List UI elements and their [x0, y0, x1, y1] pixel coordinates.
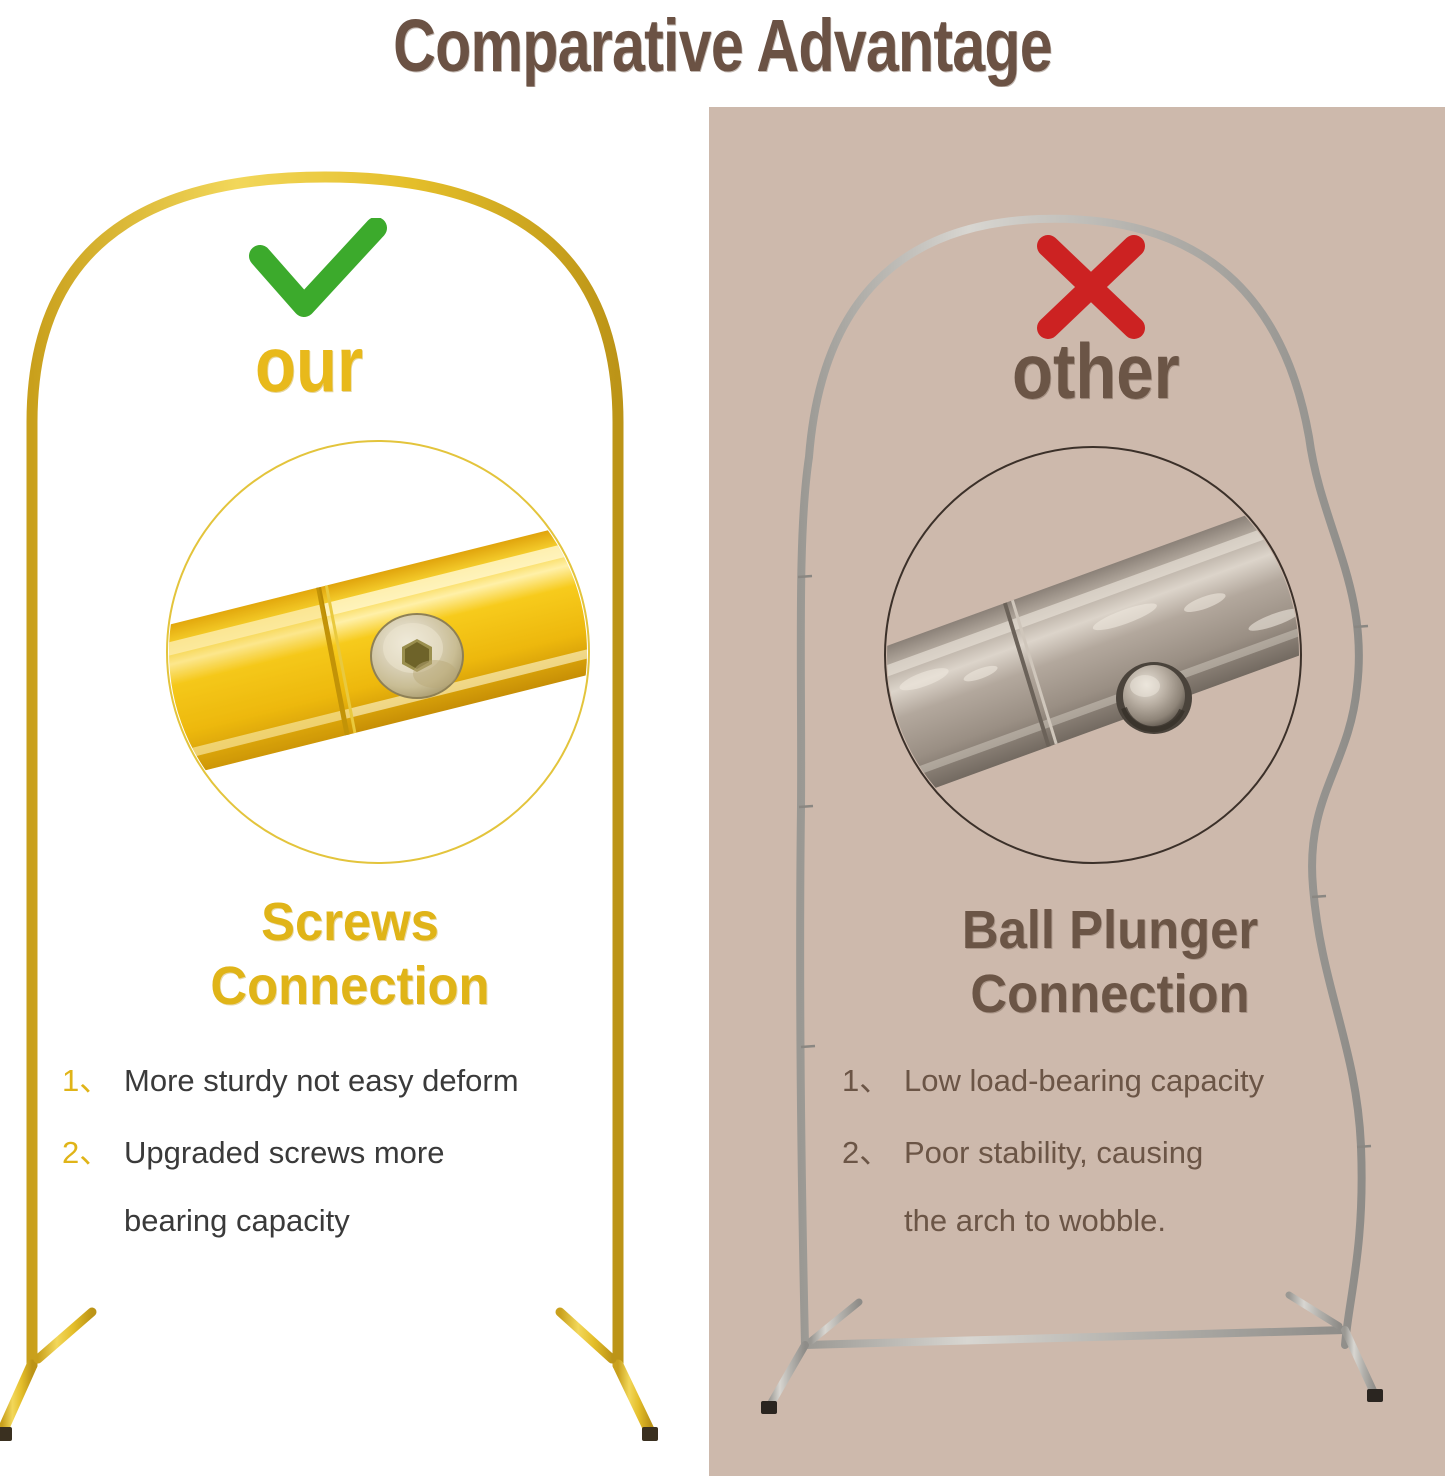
- bullet-text-continued: bearing capacity: [124, 1202, 444, 1240]
- list-item: 1、 More sturdy not easy deform: [62, 1062, 662, 1100]
- list-item: 2、 Poor stability, causing the arch to w…: [842, 1134, 1382, 1240]
- bullet-text: Low load-bearing capacity: [904, 1062, 1264, 1100]
- yellow-tube-screw-photo: [168, 442, 588, 862]
- bullet-text-block: Poor stability, causing the arch to wobb…: [904, 1134, 1203, 1240]
- page-title: Comparative Advantage: [145, 2, 1301, 90]
- bullet-number: 1、: [62, 1062, 124, 1100]
- cross-mark-icon: [1022, 232, 1162, 342]
- inset-screws-connection: [166, 440, 590, 864]
- label-our: our: [255, 325, 363, 403]
- bullet-text-continued: the arch to wobble.: [904, 1202, 1203, 1240]
- list-item: 1、 Low load-bearing capacity: [842, 1062, 1382, 1100]
- comparison-infographic: Comparative Advantage: [0, 0, 1445, 1476]
- bullet-number: 2、: [62, 1134, 124, 1172]
- bullet-text-block: Upgraded screws more bearing capacity: [124, 1134, 444, 1240]
- heading-ball-plunger-connection: Ball Plunger Connection: [847, 898, 1373, 1026]
- label-other: other: [1012, 332, 1180, 410]
- heading-screws-connection: Screws Connection: [77, 890, 622, 1018]
- list-item: 2、 Upgraded screws more bearing capacity: [62, 1134, 662, 1240]
- bullet-list-other: 1、 Low load-bearing capacity 2、 Poor sta…: [842, 1062, 1382, 1274]
- check-mark-icon: [248, 218, 388, 328]
- bullet-list-our: 1、 More sturdy not easy deform 2、 Upgrad…: [62, 1062, 662, 1274]
- bullet-number: 2、: [842, 1134, 904, 1172]
- bullet-text: More sturdy not easy deform: [124, 1062, 519, 1100]
- gray-tube-ball-plunger-photo: [886, 448, 1300, 862]
- bullet-number: 1、: [842, 1062, 904, 1100]
- bullet-text: Upgraded screws more: [124, 1135, 444, 1170]
- inset-ball-plunger-connection: [884, 446, 1302, 864]
- bullet-text: Poor stability, causing: [904, 1135, 1203, 1170]
